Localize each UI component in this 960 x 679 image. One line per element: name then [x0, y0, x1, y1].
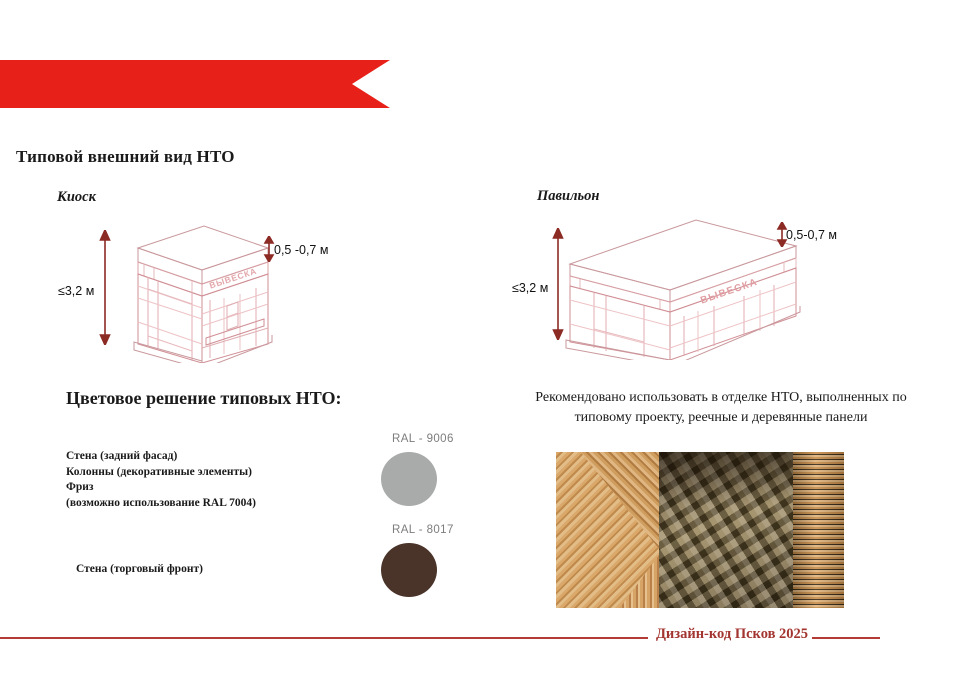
pavilion-height-arrow	[551, 228, 565, 340]
kiosk-label: Киоск	[57, 189, 96, 206]
panel-shade-overlay	[793, 452, 844, 608]
pavilion-label: Павильон	[537, 188, 599, 205]
legend-item-wall-rear: Стена (задний фасад)	[66, 449, 256, 465]
footer-rule-right	[812, 637, 880, 639]
ral-9006-label: RAL - 9006	[392, 433, 454, 445]
ral-8017-label: RAL - 8017	[392, 524, 454, 536]
page-title-line2: художественные решения НТО.	[44, 24, 384, 49]
legend-item-alt-ral: (возможно использование RAL 7004)	[66, 496, 256, 512]
page-title-line1: Архитектурно-	[44, 0, 384, 24]
diagonal-wood-slats-panel-photo	[556, 452, 659, 608]
recommendation-line2: типовому проекту, реечные и деревянные п…	[575, 410, 868, 425]
kiosk-sign-dimension: 0,5 -0,7 м	[274, 243, 328, 257]
color-swatch-ral-9006	[381, 452, 437, 506]
typical-view-heading: Типовой внешний вид НТО	[16, 147, 235, 167]
header-banner	[0, 60, 390, 108]
pavilion-height-dimension: ≤3,2 м	[512, 281, 548, 295]
panel-shadow-overlay	[659, 452, 793, 505]
color-solution-heading: Цветовое решение типовых НТО:	[66, 388, 342, 409]
legend-item-frieze: Фриз	[66, 480, 256, 496]
legend-item-columns: Колонны (декоративные элементы)	[66, 465, 256, 481]
legend-item-wall-front: Стена (торговый фронт)	[76, 563, 203, 575]
kiosk-height-dimension: ≤3,2 м	[58, 284, 94, 298]
kiosk-diagram: ВЫВЕСКА	[96, 218, 286, 363]
vertical-wood-batten-panel-photo	[793, 452, 844, 608]
svg-text:ВЫВЕСКА: ВЫВЕСКА	[208, 266, 258, 291]
kiosk-height-arrow	[98, 230, 112, 345]
recommendation-text: Рекомендовано использовать в отделке НТО…	[496, 388, 946, 428]
pavilion-sign-dimension: 0,5-0,7 м	[786, 228, 837, 242]
banner-shape	[0, 60, 390, 108]
footer-rule-left	[0, 637, 648, 639]
color-swatch-ral-8017	[381, 543, 437, 597]
recommendation-line1: Рекомендовано использовать в отделке НТО…	[535, 390, 906, 405]
3d-wood-block-panel-photo	[659, 452, 793, 608]
wood-panel-photo-strip	[556, 452, 844, 608]
footer-text: Дизайн-код Псков 2025	[652, 626, 812, 643]
color-legend-top: Стена (задний фасад) Колонны (декоративн…	[66, 449, 256, 511]
page-title: Архитектурно- художественные решения НТО…	[44, 0, 384, 49]
